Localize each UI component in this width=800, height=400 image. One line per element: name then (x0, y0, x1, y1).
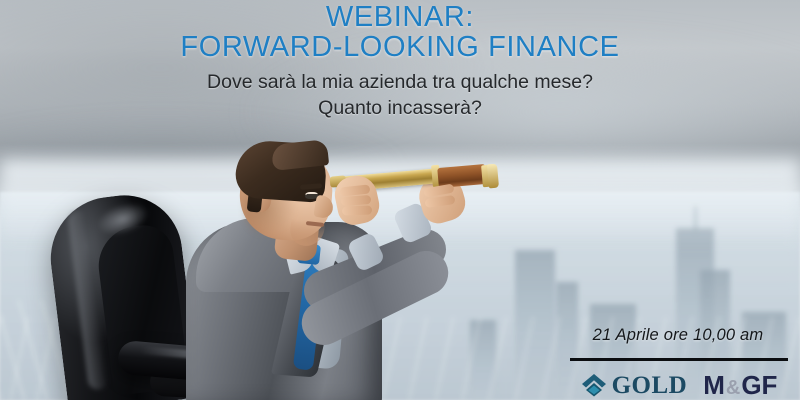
headline: WEBINAR: FORWARD-LOOKING FINANCE (0, 2, 800, 62)
headline-line1: WEBINAR: (326, 1, 474, 33)
finger (342, 205, 372, 215)
gold-logo: GOLD (581, 373, 688, 398)
logo-row: GOLD M & GF (566, 372, 792, 398)
gold-wordmark: GOLD (612, 373, 688, 398)
subheadline: Dove sarà la mia azienda tra qualche mes… (0, 70, 800, 121)
subheadline-line2: Quanto incasserà? (0, 96, 800, 121)
telescope-objective-lens (487, 164, 499, 189)
mgf-ampersand: & (725, 378, 741, 398)
divider-rule (570, 358, 788, 361)
event-datetime: 21 Aprile ore 10,00 am (568, 326, 788, 345)
webinar-poster: WEBINAR: FORWARD-LOOKING FINANCE Dove sa… (0, 0, 800, 400)
headline-line2: FORWARD-LOOKING FINANCE (0, 32, 800, 62)
mgf-m: M (703, 372, 725, 398)
subheadline-line1: Dove sarà la mia azienda tra qualche mes… (207, 71, 593, 93)
diamond-chevron-icon (581, 373, 607, 397)
headline-block: WEBINAR: FORWARD-LOOKING FINANCE Dove sa… (0, 2, 800, 121)
mgf-logo: M & GF (703, 372, 777, 398)
mgf-gf: GF (741, 372, 777, 398)
